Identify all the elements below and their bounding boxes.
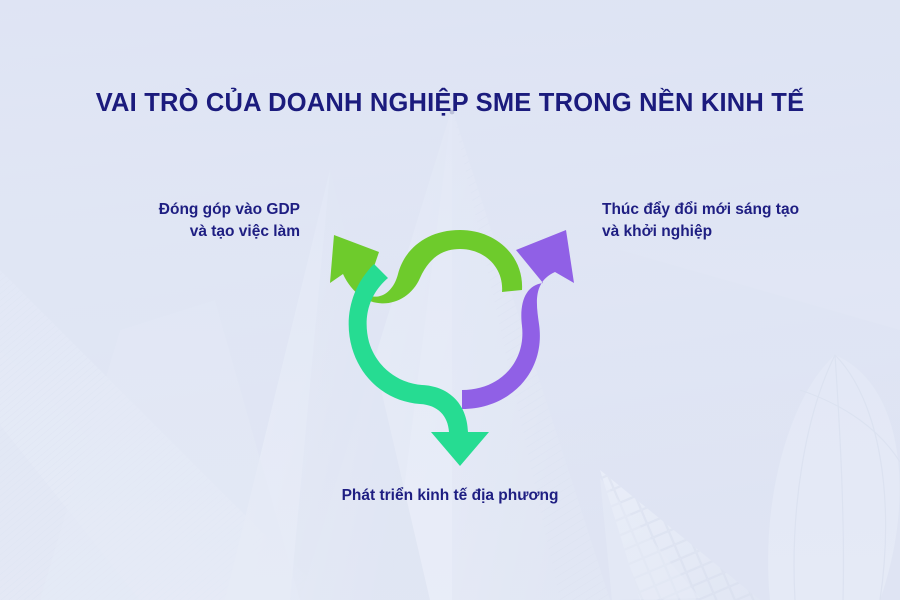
label-gdp-line2: và tạo việc làm <box>95 221 300 243</box>
purple-arrow-innovation <box>462 230 574 409</box>
page-title: VAI TRÒ CỦA DOANH NGHIỆP SME TRONG NỀN K… <box>0 89 900 118</box>
teal-arrow-local <box>349 264 489 466</box>
label-innovation-line1: Thúc đẩy đổi mới sáng tạo <box>602 199 862 221</box>
cycle-diagram <box>310 190 610 480</box>
infographic-canvas: VAI TRÒ CỦA DOANH NGHIỆP SME TRONG NỀN K… <box>0 0 900 600</box>
label-local-development: Phát triển kinh tế địa phương <box>0 485 900 507</box>
label-innovation-startup: Thúc đẩy đổi mới sáng tạo và khởi nghiệp <box>602 199 862 244</box>
label-innovation-line2: và khởi nghiệp <box>602 221 862 243</box>
label-gdp-contribution: Đóng góp vào GDP và tạo việc làm <box>95 199 300 244</box>
label-gdp-line1: Đóng góp vào GDP <box>95 199 300 221</box>
